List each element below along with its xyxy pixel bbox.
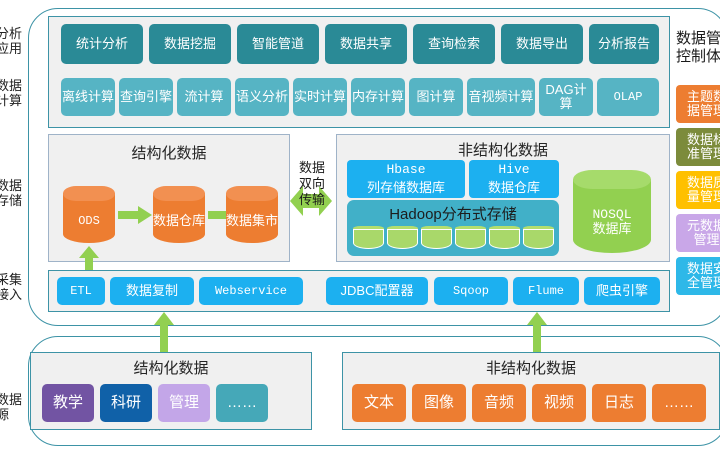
source-chip-audio[interactable]: 音频 — [472, 384, 526, 422]
compute-chip-audio-video[interactable]: 音视频计算 — [467, 78, 535, 116]
source-chip-research[interactable]: 科研 — [100, 384, 152, 422]
source-chip-label: 管理 — [169, 395, 199, 411]
app-chip-label: 智能管道 — [252, 37, 304, 51]
hadoop-node — [387, 226, 418, 250]
compute-chip-semantic[interactable]: 语义分析 — [235, 78, 289, 116]
collect-chip-label: JDBC配置器 — [341, 284, 414, 298]
rail-chip-metadata-management[interactable]: 元数据管理 — [676, 214, 720, 252]
collect-chip-label: Sqoop — [453, 285, 489, 298]
rail-chip-subject-data-management[interactable]: 主题数据管理 — [676, 85, 720, 123]
source-chip-label: 日志 — [604, 395, 634, 411]
edge-label-data-storage: 数据存储 — [0, 178, 22, 208]
compute-chip-label: 内存计算 — [352, 90, 404, 104]
app-chip-query-retrieval[interactable]: 查询检索 — [413, 24, 495, 64]
collect-chip-webservice[interactable]: Webservice — [199, 277, 303, 305]
source-chip-label: 视频 — [544, 395, 574, 411]
app-chip-smart-pipeline[interactable]: 智能管道 — [237, 24, 319, 64]
source-chip-more-unstructured[interactable]: …… — [652, 384, 706, 422]
compute-chip-label: 实时计算 — [294, 90, 346, 104]
collect-chip-etl[interactable]: ETL — [57, 277, 105, 305]
compute-chip-label: DAG计算 — [539, 83, 593, 110]
source-chip-text[interactable]: 文本 — [352, 384, 406, 422]
app-chip-label: 统计分析 — [76, 37, 128, 51]
hadoop-node — [455, 226, 486, 250]
rail-chip-line1: 数据质 — [687, 176, 720, 190]
compute-chip-label: 流计算 — [184, 90, 223, 104]
rail-chip-line1: 数据标 — [687, 133, 720, 147]
source-chip-log[interactable]: 日志 — [592, 384, 646, 422]
source-chip-more-structured[interactable]: …… — [216, 384, 268, 422]
app-chip-data-export[interactable]: 数据导出 — [501, 24, 583, 64]
collect-chip-label: ETL — [70, 285, 92, 298]
cylinder-ods: ODS — [63, 186, 115, 246]
collect-chip-label: 爬虫引擎 — [596, 284, 648, 298]
right-rail-title: 数据管 控制体 — [676, 30, 720, 66]
app-chip-analysis-report[interactable]: 分析报告 — [589, 24, 659, 64]
rail-chip-line2: 管理 — [687, 233, 720, 247]
hadoop-block[interactable]: Hadoop分布式存储 — [347, 200, 559, 256]
compute-chip-realtime[interactable]: 实时计算 — [293, 78, 347, 116]
cylinder-data-mart: 数据集市 — [226, 186, 278, 246]
collect-chip-flume[interactable]: Flume — [513, 277, 579, 305]
collect-chip-data-replication[interactable]: 数据复制 — [110, 277, 194, 305]
cylinder-label-line1: 数据集市 — [226, 214, 278, 228]
source-chip-label: 教学 — [53, 395, 83, 411]
rail-chip-line1: 元数据 — [687, 219, 720, 233]
hbase-line1: Hbase — [347, 161, 465, 179]
collect-chip-label: 数据复制 — [126, 284, 178, 298]
source-chip-label: 音频 — [484, 395, 514, 411]
compute-chip-query-engine[interactable]: 查询引擎 — [119, 78, 173, 116]
compute-chip-label: OLAP — [614, 91, 643, 104]
hadoop-title: Hadoop分布式存储 — [347, 203, 559, 224]
cylinder-data-warehouse: 数据仓库 — [153, 186, 205, 246]
source-chip-label: …… — [227, 395, 257, 411]
compute-chip-olap[interactable]: OLAP — [597, 78, 659, 116]
hadoop-node — [421, 226, 452, 250]
source-chip-image[interactable]: 图像 — [412, 384, 466, 422]
compute-chip-label: 离线计算 — [62, 90, 114, 104]
cylinder-label-line1: 数据仓库 — [153, 214, 205, 228]
architecture-diagram: 分析应用 数据计算 数据存储 采集接入 数据源 统计分析 数据挖掘 智能管道 数… — [0, 0, 720, 450]
hbase-block[interactable]: Hbase 列存储数据库 — [347, 160, 465, 198]
source-chip-label: …… — [664, 395, 694, 411]
source-unstructured-title: 非结构化数据 — [342, 357, 720, 378]
hadoop-node — [523, 226, 554, 250]
rail-chip-line2: 量管理 — [687, 190, 720, 204]
app-chip-label: 分析报告 — [598, 37, 650, 51]
hadoop-node — [353, 226, 384, 250]
rail-chip-line1: 数据安 — [687, 262, 720, 276]
rail-chip-line2: 全管理 — [687, 276, 720, 290]
transfer-label-line2: 双向 — [296, 176, 328, 192]
app-chip-label: 数据挖掘 — [164, 37, 216, 51]
right-rail-title-line2: 控制体 — [676, 48, 720, 66]
compute-chip-graph[interactable]: 图计算 — [409, 78, 463, 116]
collect-chip-jdbc-configurator[interactable]: JDBC配置器 — [326, 277, 428, 305]
arrow-ods-to-warehouse — [118, 206, 152, 224]
compute-chip-label: 语义分析 — [236, 90, 288, 104]
collect-chip-sqoop[interactable]: Sqoop — [434, 277, 508, 305]
unstructured-storage-title: 非结构化数据 — [336, 139, 670, 160]
source-chip-management[interactable]: 管理 — [158, 384, 210, 422]
cylinder-nosql: NOSQL 数据库 — [573, 170, 651, 256]
cylinder-label: ODS — [78, 215, 100, 228]
collect-chip-label: Flume — [528, 285, 564, 298]
app-chip-label: 数据共享 — [340, 37, 392, 51]
rail-chip-data-quality-management[interactable]: 数据质量管理 — [676, 171, 720, 209]
source-chip-label: 图像 — [424, 395, 454, 411]
app-chip-label: 查询检索 — [428, 37, 480, 51]
compute-chip-label: 查询引擎 — [120, 90, 172, 104]
compute-chip-stream[interactable]: 流计算 — [177, 78, 231, 116]
hadoop-node — [489, 226, 520, 250]
compute-chip-label: 音视频计算 — [468, 90, 533, 104]
hive-line2: 数据仓库 — [469, 179, 559, 197]
rail-chip-line1: 主题数 — [687, 90, 720, 104]
rail-chip-line2: 据管理 — [687, 104, 720, 118]
nosql-line2: 数据库 — [592, 222, 631, 236]
app-chip-label: 数据导出 — [516, 37, 568, 51]
edge-label-analysis-application: 分析应用 — [0, 26, 22, 56]
transfer-label-line3: 传输 — [296, 192, 328, 208]
hbase-line2: 列存储数据库 — [347, 179, 465, 197]
transfer-label-line1: 数据 — [296, 160, 328, 176]
right-rail-title-line1: 数据管 — [676, 30, 720, 48]
source-chip-label: 科研 — [111, 395, 141, 411]
app-chip-statistical-analysis[interactable]: 统计分析 — [61, 24, 143, 64]
compute-chip-inmemory[interactable]: 内存计算 — [351, 78, 405, 116]
app-chip-data-mining[interactable]: 数据挖掘 — [149, 24, 231, 64]
rail-chip-data-security-management[interactable]: 数据安全管理 — [676, 257, 720, 295]
compute-chip-dag[interactable]: DAG计算 — [539, 78, 593, 116]
edge-label-collect-access: 采集接入 — [0, 272, 22, 302]
edge-label-data-compute: 数据计算 — [0, 78, 22, 108]
structured-storage-title: 结构化数据 — [48, 142, 290, 163]
source-structured-title: 结构化数据 — [30, 357, 312, 378]
source-chip-label: 文本 — [364, 395, 394, 411]
nosql-line1: NOSQL — [592, 208, 631, 222]
edge-label-data-source: 数据源 — [0, 392, 22, 422]
app-chip-data-sharing[interactable]: 数据共享 — [325, 24, 407, 64]
rail-chip-line2: 准管理 — [687, 147, 720, 161]
compute-chip-offline[interactable]: 离线计算 — [61, 78, 115, 116]
transfer-label: 数据 双向 传输 — [296, 160, 328, 208]
collect-chip-label: Webservice — [215, 285, 287, 298]
source-chip-video[interactable]: 视频 — [532, 384, 586, 422]
hive-line1: Hive — [469, 161, 559, 179]
hive-block[interactable]: Hive 数据仓库 — [469, 160, 559, 198]
collect-chip-crawler-engine[interactable]: 爬虫引擎 — [584, 277, 660, 305]
rail-chip-data-standard-management[interactable]: 数据标准管理 — [676, 128, 720, 166]
compute-chip-label: 图计算 — [416, 90, 455, 104]
hadoop-node-row — [353, 226, 554, 250]
source-chip-teaching[interactable]: 教学 — [42, 384, 94, 422]
